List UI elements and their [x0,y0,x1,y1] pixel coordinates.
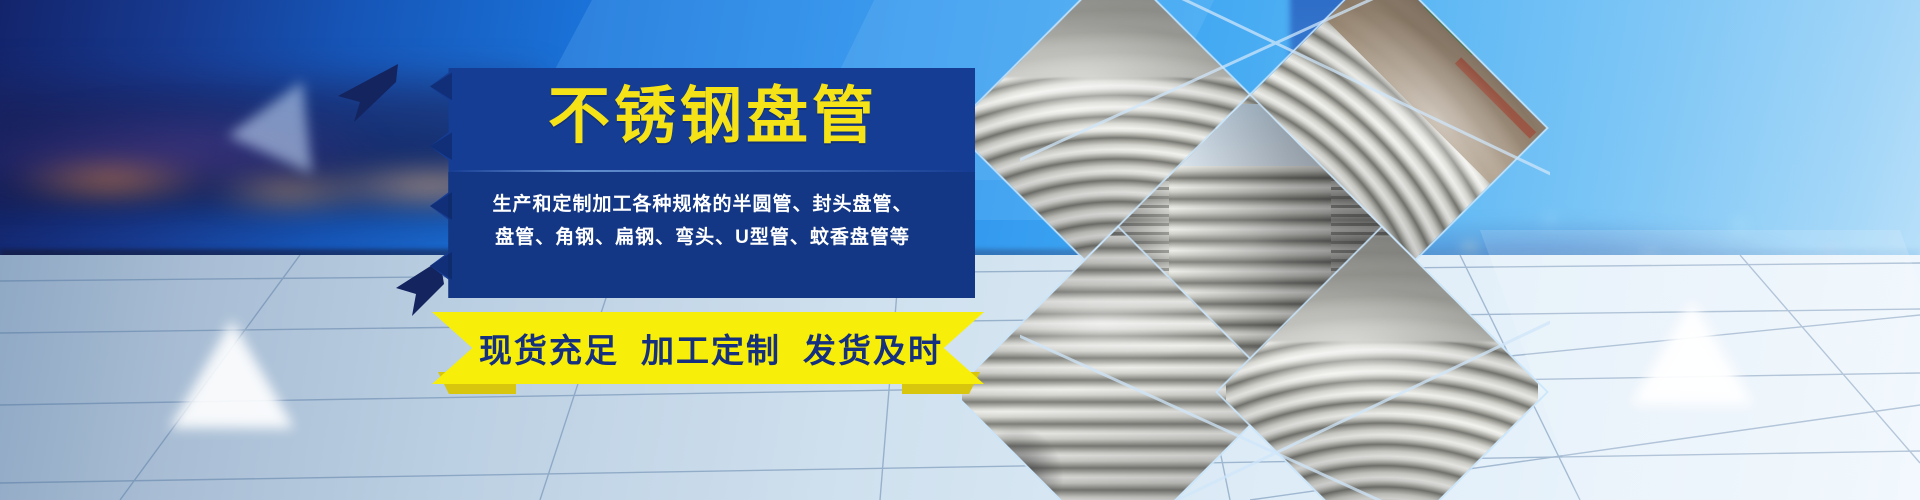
light-triangle-left [170,320,294,428]
subtitle-block: 生产和定制加工各种规格的半圆管、封头盘管、 盘管、角钢、扁钢、弯头、U型管、蚊香… [430,188,975,255]
product-photo-collage [1020,0,1550,500]
ribbon-text: 现货充足 加工定制 发货及时 [432,312,984,384]
page-title: 不锈钢盘管 [548,86,878,148]
headline-panel: 不锈钢盘管 生产和定制加工各种规格的半圆管、封头盘管、 盘管、角钢、扁钢、弯头、… [430,68,975,298]
headline-panel-divider [448,170,969,172]
chevron-arrow-top-icon [330,62,400,124]
subtitle-line-2: 盘管、角钢、扁钢、弯头、U型管、蚊香盘管等 [430,221,975,254]
light-triangle-right [1630,300,1754,405]
selling-points-ribbon: 现货充足 加工定制 发货及时 [432,312,984,384]
product-hero-banner: 不锈钢盘管 生产和定制加工各种规格的半圆管、封头盘管、 盘管、角钢、扁钢、弯头、… [0,0,1920,500]
subtitle-line-1: 生产和定制加工各种规格的半圆管、封头盘管、 [430,188,975,221]
selling-point-3: 发货及时 [803,324,943,372]
selling-point-2: 加工定制 [641,324,781,372]
selling-point-1: 现货充足 [479,324,619,372]
